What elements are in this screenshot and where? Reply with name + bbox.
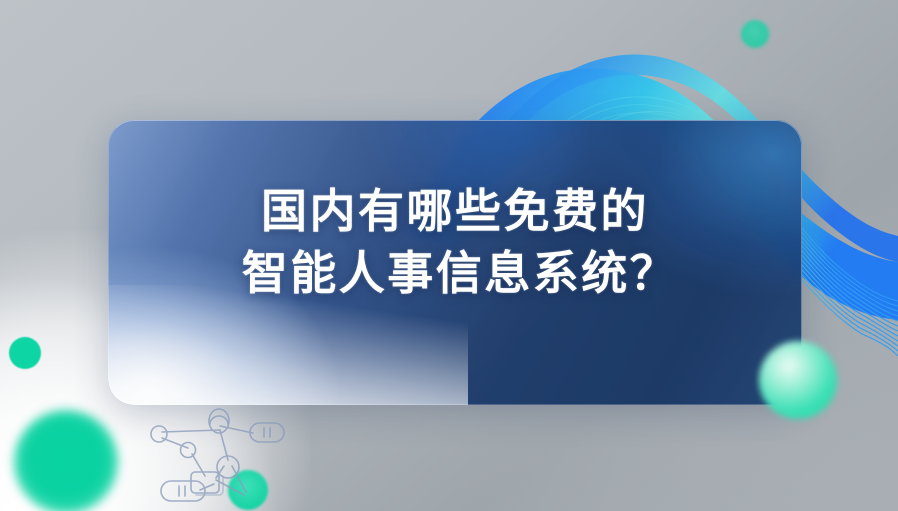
green-dot-small-left [9, 337, 41, 369]
network-diagram-icon [150, 398, 300, 511]
page-title: 国内有哪些免费的 智能人事信息系统？ [108, 180, 802, 304]
green-dot-top-right [741, 20, 769, 48]
green-blob-card-right [759, 341, 837, 419]
poster-canvas: 国内有哪些免费的 智能人事信息系统？ [0, 0, 898, 511]
title-line-2: 智能人事信息系统？ [108, 242, 802, 304]
title-line-1: 国内有哪些免费的 [108, 180, 802, 242]
question-card[interactable]: 国内有哪些免费的 智能人事信息系统？ [108, 120, 802, 405]
green-blob-large-left [14, 410, 118, 511]
